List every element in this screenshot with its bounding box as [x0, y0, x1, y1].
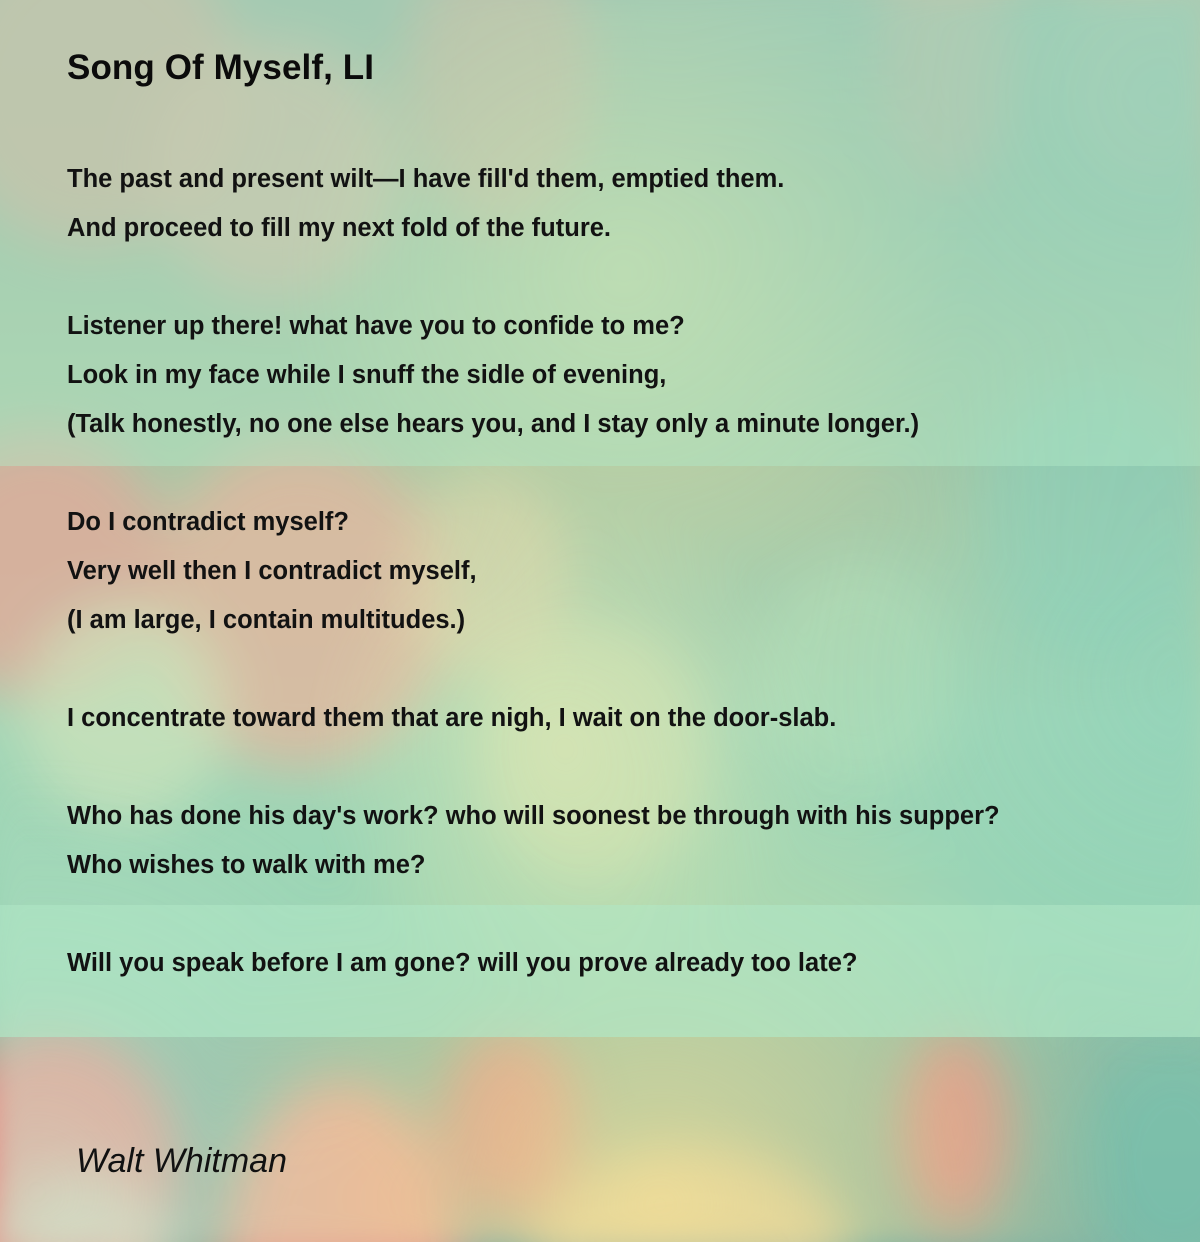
poem-line: Who has done his day's work? who will so…	[67, 792, 1200, 841]
poem-line: Who wishes to walk with me?	[67, 841, 1200, 890]
poem-line-blank	[67, 743, 1200, 792]
poem-line: And proceed to fill my next fold of the …	[67, 204, 1200, 253]
poem-line-blank	[67, 645, 1200, 694]
poem-content: Song Of Myself, LI The past and present …	[0, 0, 1200, 1242]
poem-author: Walt Whitman	[76, 1142, 287, 1181]
poem-line-blank	[67, 253, 1200, 302]
poem-line: The past and present wilt—I have fill'd …	[67, 155, 1200, 204]
poem-line: I concentrate toward them that are nigh,…	[67, 694, 1200, 743]
poem-line: Look in my face while I snuff the sidle …	[67, 351, 1200, 400]
poem-line: Will you speak before I am gone? will yo…	[67, 939, 1200, 988]
poem-line: Listener up there! what have you to conf…	[67, 302, 1200, 351]
poem-line: (Talk honestly, no one else hears you, a…	[67, 400, 1200, 449]
poem-card: Song Of Myself, LI The past and present …	[0, 0, 1200, 1242]
poem-body: The past and present wilt—I have fill'd …	[67, 155, 1200, 988]
poem-title: Song Of Myself, LI	[67, 48, 374, 88]
poem-line-blank	[67, 890, 1200, 939]
poem-line: (I am large, I contain multitudes.)	[67, 596, 1200, 645]
poem-line: Do I contradict myself?	[67, 498, 1200, 547]
poem-line-blank	[67, 449, 1200, 498]
poem-line: Very well then I contradict myself,	[67, 547, 1200, 596]
